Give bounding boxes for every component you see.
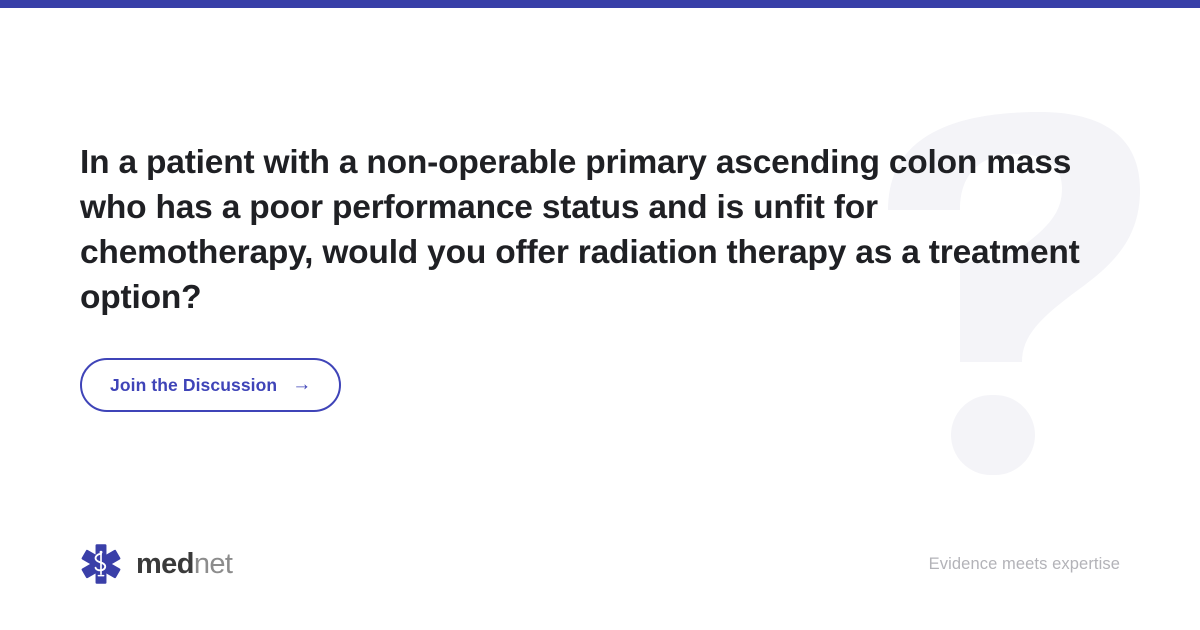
top-accent-bar (0, 0, 1200, 8)
join-discussion-button[interactable]: Join the Discussion → (80, 358, 341, 412)
discussion-promo-card: In a patient with a non-operable primary… (0, 0, 1200, 630)
page-title: In a patient with a non-operable primary… (80, 140, 1080, 320)
card-footer: mednet Evidence meets expertise (80, 542, 1120, 586)
brand-logo[interactable]: mednet (80, 543, 232, 585)
brand-tagline: Evidence meets expertise (929, 555, 1120, 574)
card-content: In a patient with a non-operable primary… (80, 140, 1090, 412)
cta-container: Join the Discussion → (80, 358, 1090, 412)
star-of-life-icon (80, 543, 122, 585)
brand-word-med: med (136, 548, 194, 580)
brand-wordmark: mednet (136, 550, 232, 579)
brand-word-net: net (194, 548, 233, 580)
join-discussion-label: Join the Discussion (110, 375, 277, 396)
arrow-right-icon: → (292, 375, 311, 394)
